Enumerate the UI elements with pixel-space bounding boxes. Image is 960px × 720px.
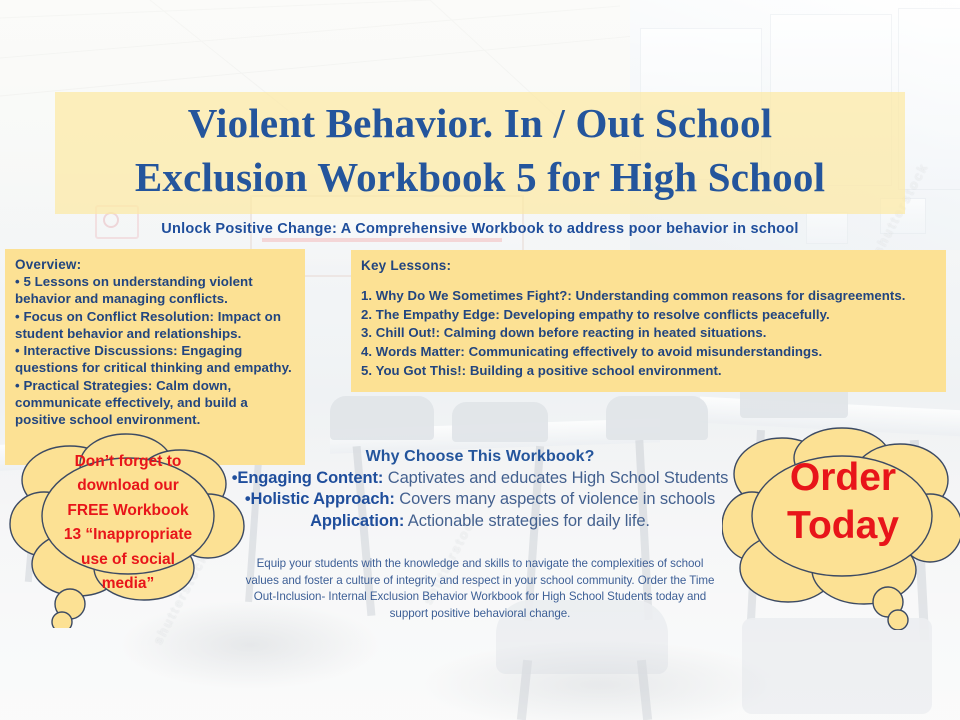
key-lessons-card: Key Lessons: 1. Why Do We Sometimes Figh… [351,250,946,392]
bubble-right-line: Today [748,502,938,550]
key-lesson-item: 1. Why Do We Sometimes Fight?: Understan… [361,287,936,306]
key-lesson-item: 3. Chill Out!: Calming down before react… [361,324,936,343]
thought-bubble-right-text: Order Today [748,454,938,549]
key-lessons-heading: Key Lessons: [361,258,936,273]
bubble-left-line: download our [30,474,226,498]
bubble-right-line: Order [748,454,938,502]
closing-paragraph: Equip your students with the knowledge a… [240,556,720,622]
why-choose-point: Application: Actionable strategies for d… [170,511,790,532]
why-choose-point: •Engaging Content: Captivates and educat… [170,468,790,489]
title-line-1: Violent Behavior. In / Out School [55,96,905,150]
why-choose-point-label: Application: [310,512,404,530]
page-subtitle: Unlock Positive Change: A Comprehensive … [80,221,880,237]
thought-bubble-right[interactable]: Order Today [722,424,960,630]
bubble-left-line: use of social [30,548,226,572]
overview-heading: Overview: [15,257,295,272]
why-choose-point-text: Captivates and educates High School Stud… [383,469,728,487]
key-lesson-item: 5. You Got This!: Building a positive sc… [361,362,936,381]
poster-canvas: shutterstock shutterstock shutterstock V… [0,0,960,720]
why-choose-point: •Holistic Approach: Covers many aspects … [170,489,790,510]
why-choose-point-label: •Holistic Approach: [245,490,395,508]
bubble-left-line: Don’t forget to [30,450,226,474]
spacer [361,274,936,287]
bubble-left-line: 13 “Inappropriate [30,523,226,547]
title-line-2: Exclusion Workbook 5 for High School [55,150,905,204]
why-choose-point-label: •Engaging Content: [232,469,384,487]
why-choose-section: Why Choose This Workbook? •Engaging Cont… [170,448,790,532]
why-choose-point-text: Actionable strategies for daily life. [404,512,650,530]
why-choose-heading: Why Choose This Workbook? [170,448,790,466]
overview-item: • Focus on Conflict Resolution: Impact o… [15,308,295,343]
overview-item: • Interactive Discussions: Engaging ques… [15,342,295,377]
overview-item: • 5 Lessons on understanding violent beh… [15,273,295,308]
overview-item: • Practical Strategies: Calm down, commu… [15,377,295,429]
thought-bubble-left[interactable]: Don’t forget to download our FREE Workbo… [8,428,250,628]
bubble-left-line: media” [30,572,226,596]
page-title: Violent Behavior. In / Out School Exclus… [55,96,905,204]
key-lesson-item: 2. The Empathy Edge: Developing empathy … [361,306,936,325]
why-choose-point-text: Covers many aspects of violence in schoo… [395,490,715,508]
key-lesson-item: 4. Words Matter: Communicating effective… [361,343,936,362]
bubble-left-line: FREE Workbook [30,499,226,523]
thought-bubble-left-text: Don’t forget to download our FREE Workbo… [30,450,226,597]
